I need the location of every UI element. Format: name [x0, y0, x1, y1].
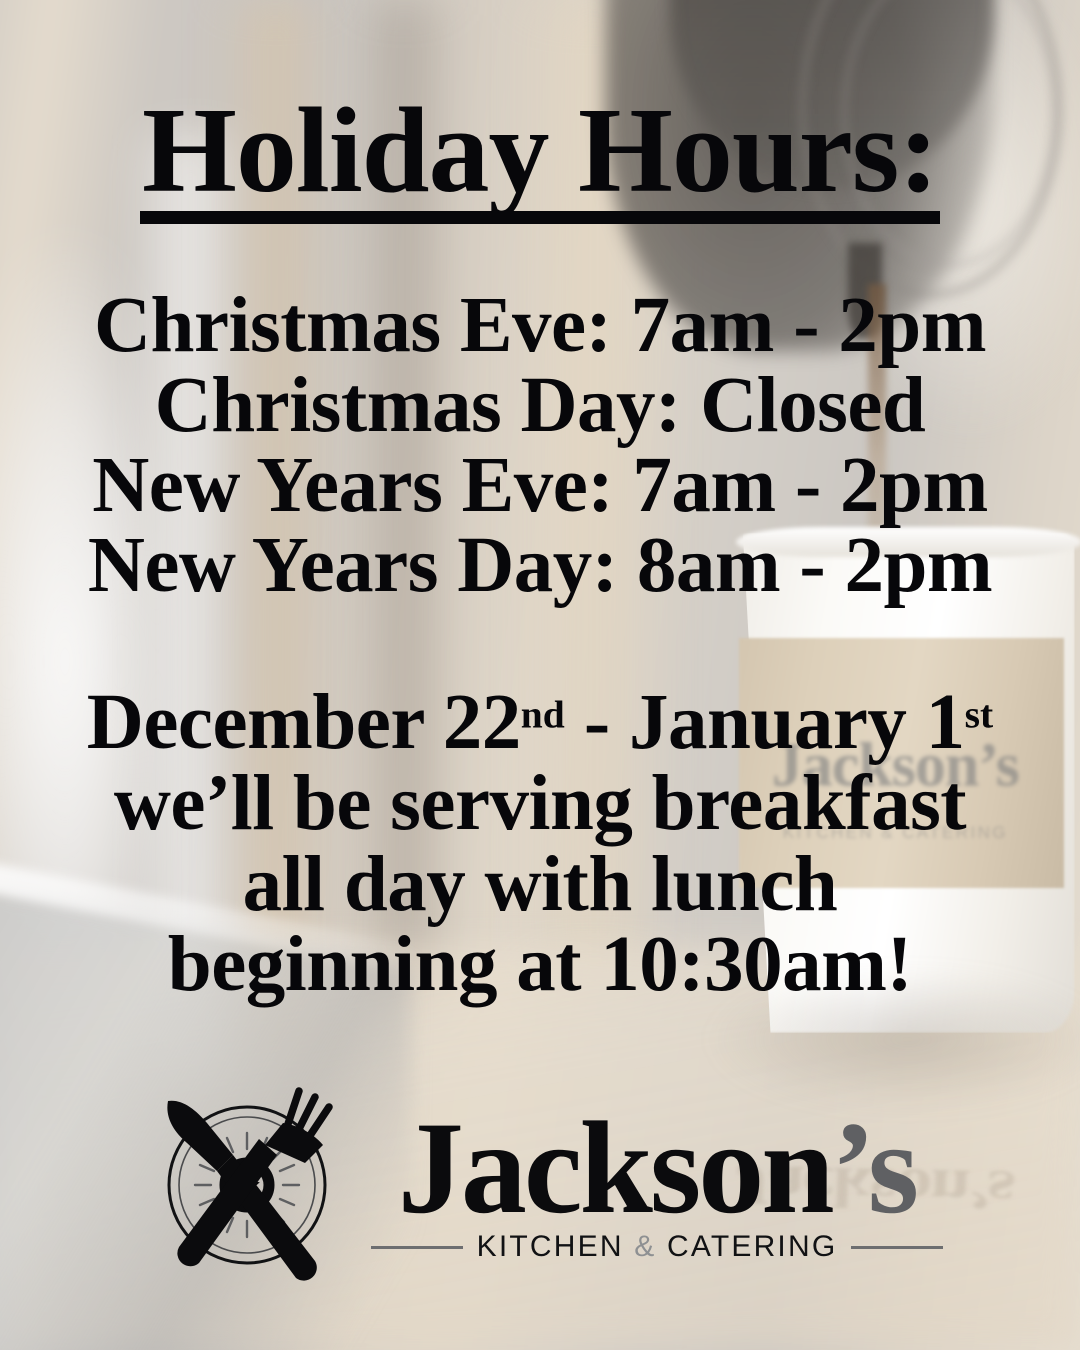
service-note-line-4: beginning at 10:30am!: [0, 925, 1080, 1006]
hours-line-christmas-eve: Christmas Eve: 7am - 2pm: [0, 286, 1080, 366]
hours-line-new-years-day: New Years Day: 8am - 2pm: [0, 526, 1080, 606]
hours-line-new-years-eve: New Years Eve: 7am - 2pm: [0, 446, 1080, 526]
page-title: Holiday Hours:: [136, 92, 944, 210]
brand-logo-lockup: Jackson’s KITCHEN & CATERING: [0, 1083, 1080, 1288]
brand-tagline-row: KITCHEN & CATERING: [371, 1230, 944, 1264]
hours-line-christmas-day: Christmas Day: Closed: [0, 366, 1080, 446]
tagline-rule-right: [851, 1246, 943, 1249]
brand-wordmark: Jackson’s: [398, 1111, 916, 1225]
brand-tagline: KITCHEN & CATERING: [477, 1230, 838, 1264]
tagline-kitchen: KITCHEN: [477, 1230, 635, 1263]
title-block: Holiday Hours:: [0, 92, 1080, 210]
brand-wordmark-apostrophe-s: ’s: [832, 1094, 916, 1241]
page-title-text: Holiday Hours:: [142, 83, 938, 218]
note-date-range-mid: - January 1: [565, 679, 965, 766]
service-note: December 22nd - January 1st we’ll be ser…: [0, 683, 1080, 1005]
crossed-knife-and-fork-plate-star-icon: [137, 1083, 357, 1288]
tagline-rule-left: [371, 1246, 463, 1249]
title-underline-rule: [140, 211, 940, 224]
holiday-hours-poster: Jackson’s KITCHEN & CATERING Jackson’s H…: [0, 0, 1080, 1350]
service-note-line-2: we’ll be serving breakfast: [0, 764, 1080, 845]
note-date-range-pre: December 22: [87, 679, 521, 766]
brand-wordmark-name: Jackson: [398, 1094, 832, 1241]
tagline-ampersand: &: [634, 1230, 656, 1263]
note-ordinal-nd: nd: [521, 693, 565, 737]
hours-list: Christmas Eve: 7am - 2pm Christmas Day: …: [0, 286, 1080, 605]
service-note-line-3: all day with lunch: [0, 845, 1080, 926]
tagline-catering: CATERING: [656, 1230, 837, 1263]
brand-wordmark-block: Jackson’s KITCHEN & CATERING: [371, 1111, 944, 1265]
note-ordinal-st: st: [965, 693, 994, 737]
service-note-line-1: December 22nd - January 1st: [0, 683, 1080, 764]
